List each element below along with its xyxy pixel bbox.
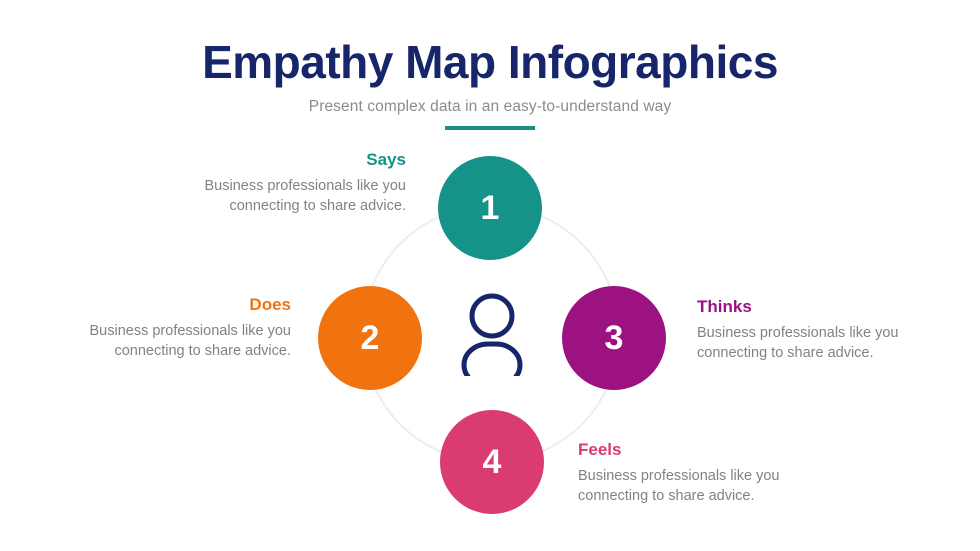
node-number-2: 2: [361, 321, 380, 355]
heading-says: Says: [145, 150, 406, 170]
text-block-does: Does Business professionals like you con…: [30, 295, 291, 361]
page-title: Empathy Map Infographics: [0, 38, 980, 86]
heading-thinks: Thinks: [697, 297, 962, 317]
text-block-says: Says Business professionals like you con…: [145, 150, 406, 216]
node-circle-3[interactable]: 3: [562, 286, 666, 390]
empathy-map-slide: Empathy Map Infographics Present complex…: [0, 0, 980, 551]
description-says: Business professionals like you connecti…: [145, 176, 406, 216]
description-does: Business professionals like you connecti…: [30, 321, 291, 361]
person-icon: [455, 292, 529, 376]
heading-does: Does: [30, 295, 291, 315]
node-circle-1[interactable]: 1: [438, 156, 542, 260]
node-number-4: 4: [483, 445, 502, 479]
description-feels: Business professionals like you connecti…: [578, 466, 853, 506]
node-number-3: 3: [605, 321, 624, 355]
text-block-feels: Feels Business professionals like you co…: [578, 440, 853, 506]
description-thinks: Business professionals like you connecti…: [697, 323, 962, 363]
node-circle-4[interactable]: 4: [440, 410, 544, 514]
node-circle-2[interactable]: 2: [318, 286, 422, 390]
heading-feels: Feels: [578, 440, 853, 460]
text-block-thinks: Thinks Business professionals like you c…: [697, 297, 962, 363]
title-divider: [445, 126, 535, 130]
page-subtitle: Present complex data in an easy-to-under…: [0, 98, 980, 116]
node-number-1: 1: [481, 191, 500, 225]
